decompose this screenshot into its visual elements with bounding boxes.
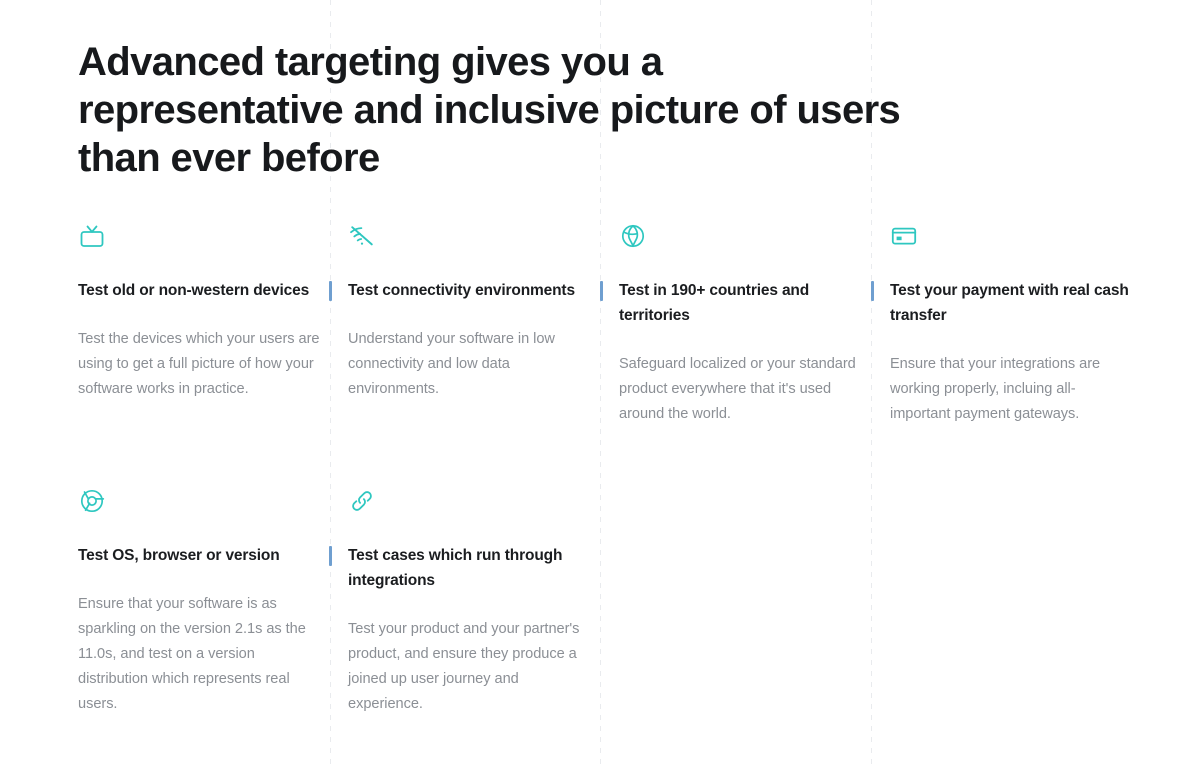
accent-bar xyxy=(600,281,603,301)
accent-bar xyxy=(871,281,874,301)
feature-card-title: Test in 190+ countries and territories xyxy=(619,278,864,328)
page-title-line-1: Advanced targeting gives you a xyxy=(78,38,888,86)
page-title: Advanced targeting gives you a represent… xyxy=(78,38,888,182)
credit-card-icon xyxy=(890,222,918,250)
feature-card-grid: Test old or non-western devices Test the… xyxy=(0,222,1200,757)
feature-card-body: Safeguard localized or your standard pro… xyxy=(619,352,864,427)
tv-icon xyxy=(78,222,106,250)
feature-card-body: Ensure that your integrations are workin… xyxy=(890,352,1135,427)
feature-card-body: Understand your software in low connecti… xyxy=(348,327,593,402)
page-title-line-3: than ever before xyxy=(78,134,888,182)
feature-card-title-text: Test your payment with real cash transfe… xyxy=(890,282,1129,324)
feature-grid-page: Advanced targeting gives you a represent… xyxy=(0,0,1200,764)
feature-card-body: Test your product and your partner's pro… xyxy=(348,617,593,717)
feature-card-title: Test cases which run through integration… xyxy=(348,543,593,593)
feature-card-body: Ensure that your software is as sparklin… xyxy=(78,592,323,717)
feature-card-title: Test OS, browser or version xyxy=(78,543,323,568)
globe-icon xyxy=(619,222,647,250)
feature-card-title: Test connectivity environments xyxy=(348,278,593,303)
accent-bar xyxy=(329,281,332,301)
feature-card-title-text: Test OS, browser or version xyxy=(78,547,280,564)
feature-card-title: Test your payment with real cash transfe… xyxy=(890,278,1135,328)
wifi-off-icon xyxy=(348,222,376,250)
feature-card-body: Test the devices which your users are us… xyxy=(78,327,323,402)
feature-card-title-text: Test in 190+ countries and territories xyxy=(619,282,809,324)
feature-card-countries: Test in 190+ countries and territories S… xyxy=(619,222,864,427)
feature-card-row-1: Test old or non-western devices Test the… xyxy=(0,222,1200,487)
feature-card-title-text: Test connectivity environments xyxy=(348,282,575,299)
feature-card-browser: Test OS, browser or version Ensure that … xyxy=(78,487,323,717)
feature-card-row-2: Test OS, browser or version Ensure that … xyxy=(0,487,1200,757)
feature-card-connectivity: Test connectivity environments Understan… xyxy=(348,222,593,402)
feature-card-integrations: Test cases which run through integration… xyxy=(348,487,593,717)
browser-chrome-icon xyxy=(78,487,106,515)
feature-card-tv: Test old or non-western devices Test the… xyxy=(78,222,323,402)
feature-card-title: Test old or non-western devices xyxy=(78,278,323,303)
link-chain-icon xyxy=(348,487,376,515)
feature-card-title-text: Test old or non-western devices xyxy=(78,282,309,299)
feature-card-title-text: Test cases which run through integration… xyxy=(348,547,562,589)
feature-card-payment: Test your payment with real cash transfe… xyxy=(890,222,1135,427)
page-title-line-2: representative and inclusive picture of … xyxy=(78,86,888,134)
accent-bar xyxy=(329,546,332,566)
